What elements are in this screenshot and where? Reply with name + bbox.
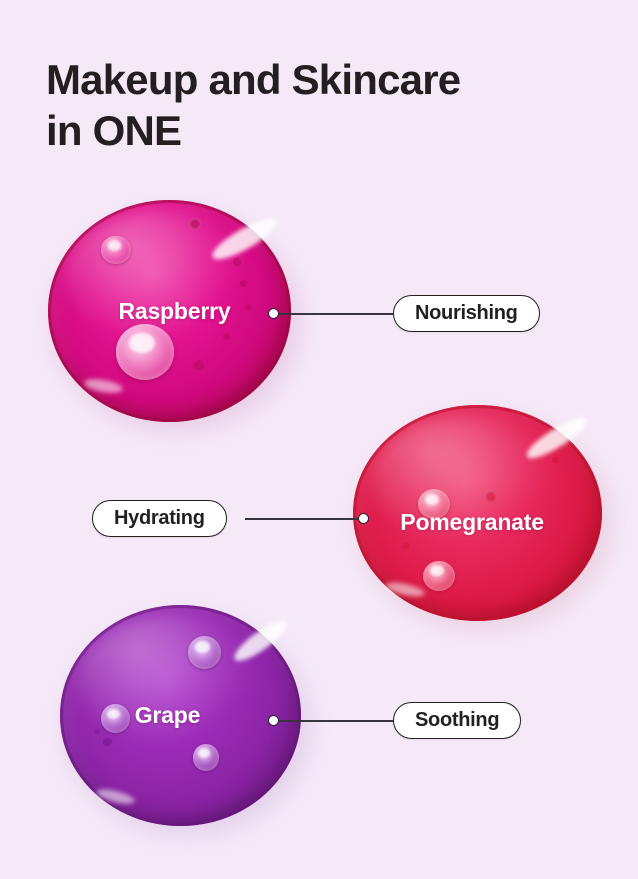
droplet-microbubble [94,729,100,735]
promo-graphic: Makeup and Skincare in ONE Raspberry [0,0,638,879]
callout-soothing[interactable]: Soothing [393,702,521,739]
droplet-label-pomegranate: Pomegranate [400,509,544,536]
anchor-dot-soothing [268,715,279,726]
callout-nourishing[interactable]: Nourishing [393,295,540,332]
anchor-dot-hydrating [358,513,369,524]
droplet-raspberry: Raspberry [48,200,291,422]
droplet-bubble [101,704,130,733]
leader-line-nourishing [276,313,396,315]
anchor-dot-nourishing [268,308,279,319]
leader-line-hydrating [245,518,363,520]
droplet-microbubble [194,360,204,370]
droplet-bubble-large [116,324,174,380]
leader-line-soothing [276,720,396,722]
droplet-label-raspberry: Raspberry [118,298,230,325]
page-title: Makeup and Skincare in ONE [46,54,576,156]
droplet-label-grape: Grape [135,702,200,729]
droplet-bubble [193,744,220,771]
droplet-microbubble [189,218,201,230]
droplet-bubble [423,561,455,591]
droplet-microbubble [245,304,251,310]
droplet-pomegranate: Pomegranate [353,405,602,621]
droplet-grape: Grape [60,605,301,826]
callout-hydrating[interactable]: Hydrating [92,500,227,537]
droplet-microbubble [103,738,111,746]
droplet-microbubble [233,258,241,266]
droplet-bubble [101,236,130,265]
